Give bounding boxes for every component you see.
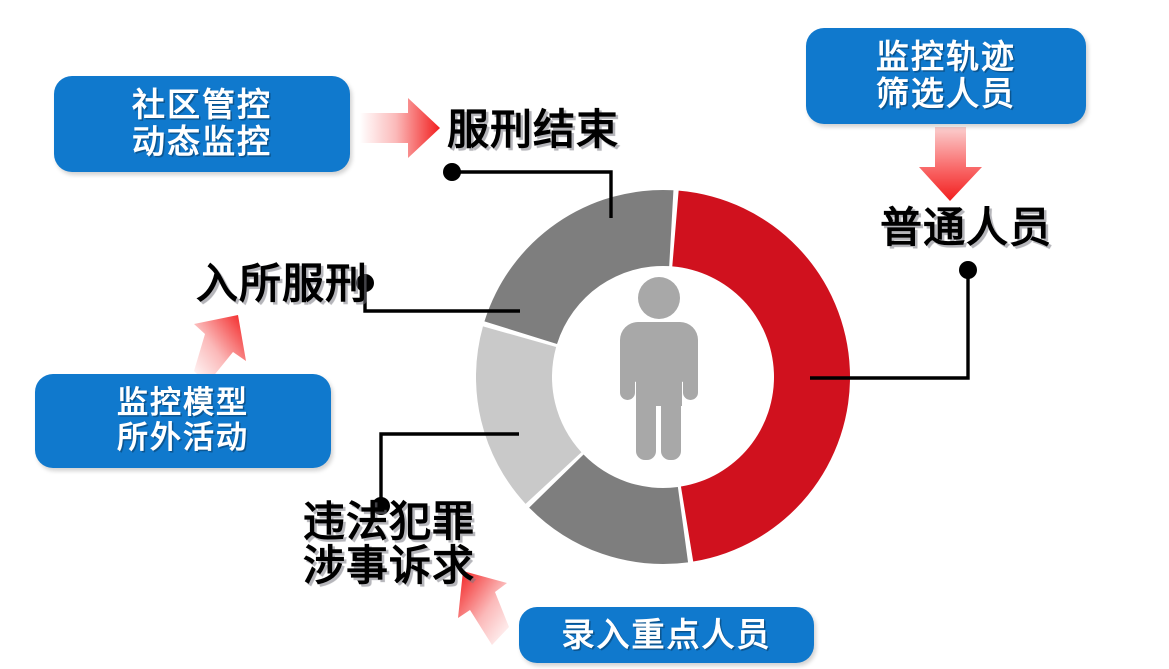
ordinary-person-label: 普通人员 xyxy=(880,206,1052,250)
monitor-model-line2: 所外活动 xyxy=(117,421,249,456)
imprisonment-label: 入所服刑 xyxy=(196,262,368,306)
donut-slice-1[interactable] xyxy=(529,455,688,564)
connector-crime xyxy=(381,434,519,500)
person-leg-right xyxy=(661,382,681,460)
diagram-canvas: 社区管控 动态监控 监控轨迹 筛选人员 监控模型 所外活动 录入重点人员 服刑结… xyxy=(0,0,1169,669)
donut-slice-3[interactable] xyxy=(484,190,673,344)
person-leg-left xyxy=(636,382,656,460)
person-torso xyxy=(620,322,698,382)
connector-imprisonment xyxy=(365,290,520,311)
donut-chart xyxy=(476,190,850,564)
crime-appeal-label: 违法犯罪 涉事诉求 xyxy=(303,500,475,588)
connector-ordinary xyxy=(810,276,968,378)
arrow-down-track-to-ordinary xyxy=(919,127,982,201)
imprisonment-line1: 入所服刑 xyxy=(196,262,368,306)
connector-dot-sentence-finished xyxy=(443,163,461,181)
person-arm-right xyxy=(683,336,698,400)
monitor-model-box[interactable]: 监控模型 所外活动 xyxy=(35,374,331,468)
person-hips xyxy=(636,366,682,406)
community-control-box[interactable]: 社区管控 动态监控 xyxy=(54,76,350,172)
connector-sentence-finished xyxy=(460,172,611,218)
community-control-line1: 社区管控 xyxy=(132,87,272,124)
crime-appeal-line2: 涉事诉求 xyxy=(303,544,475,588)
donut-slice-0[interactable] xyxy=(672,191,850,562)
sentence-finished-line1: 服刑结束 xyxy=(447,108,619,152)
monitor-track-line2: 筛选人员 xyxy=(876,76,1016,113)
donut-slice-2[interactable] xyxy=(476,326,581,503)
ordinary-person-line1: 普通人员 xyxy=(880,206,1052,250)
person-arm-left xyxy=(620,336,635,400)
connector-dot-ordinary xyxy=(959,261,977,279)
community-control-line2: 动态监控 xyxy=(132,124,272,161)
arrow-right-community-to-end xyxy=(360,98,440,158)
monitor-track-box[interactable]: 监控轨迹 筛选人员 xyxy=(806,28,1086,124)
monitor-model-line1: 监控模型 xyxy=(117,386,249,421)
crime-appeal-line1: 违法犯罪 xyxy=(303,500,475,544)
monitor-track-line1: 监控轨迹 xyxy=(876,39,1016,76)
person-icon xyxy=(620,277,698,460)
sentence-finished-label: 服刑结束 xyxy=(447,108,619,152)
enroll-key-person-box[interactable]: 录入重点人员 xyxy=(519,607,814,663)
enroll-key-person-line1: 录入重点人员 xyxy=(562,617,772,654)
person-head xyxy=(638,277,680,319)
